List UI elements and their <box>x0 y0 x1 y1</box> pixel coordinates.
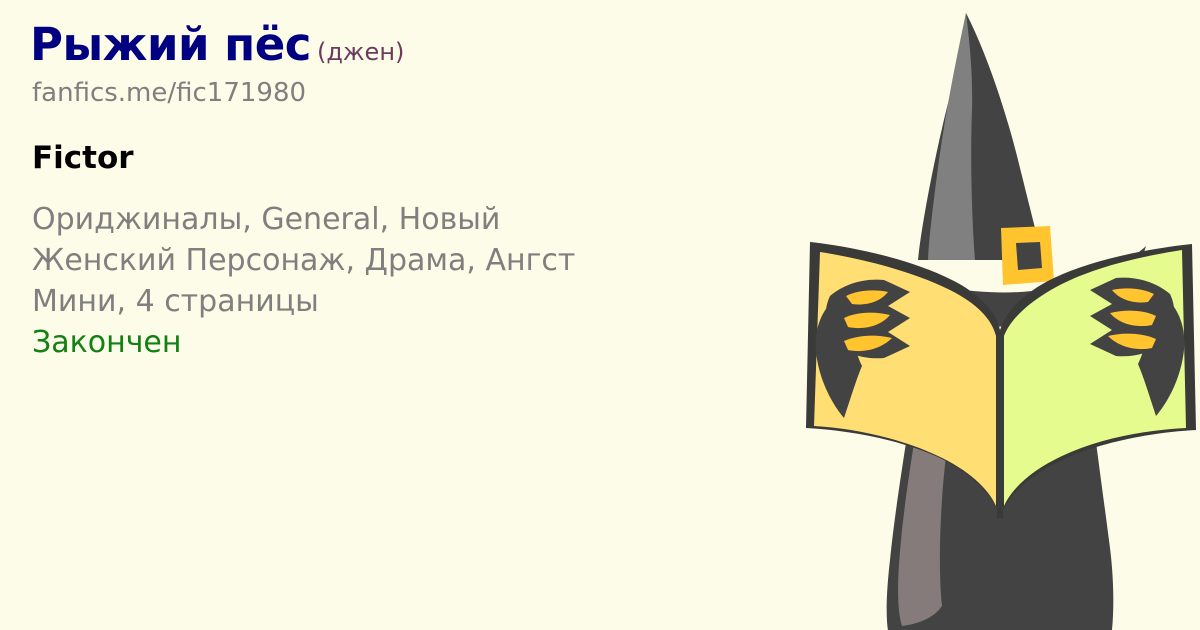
author-name[interactable]: Fictor <box>32 141 790 175</box>
witch-hat-icon <box>918 13 1044 260</box>
fic-tags: Ориджиналы, General, Новый Женский Персо… <box>32 199 747 322</box>
fic-category-label: (джен) <box>317 38 404 66</box>
status-badge: Закончен <box>32 322 790 363</box>
text-column: Рыжий пёс(джен) fanfics.me/fic171980 Fic… <box>30 22 790 363</box>
tag-line: Ориджиналы, General, Новый <box>32 199 747 240</box>
tag-line: Мини, 4 страницы <box>32 281 747 322</box>
page-title: Рыжий пёс <box>30 18 311 71</box>
witch-reading-book-illustration <box>800 0 1200 630</box>
fic-url[interactable]: fanfics.me/fic171980 <box>32 79 790 108</box>
title-line: Рыжий пёс(джен) <box>30 22 790 67</box>
fanfic-preview-card: Рыжий пёс(джен) fanfics.me/fic171980 Fic… <box>0 0 1200 630</box>
hat-buckle-icon <box>1001 226 1054 285</box>
hat-highlight <box>928 13 975 260</box>
book-spine <box>997 334 1003 518</box>
buckle-hole <box>1016 242 1042 270</box>
tag-line: Женский Персонаж, Драма, Ангст <box>32 240 747 281</box>
